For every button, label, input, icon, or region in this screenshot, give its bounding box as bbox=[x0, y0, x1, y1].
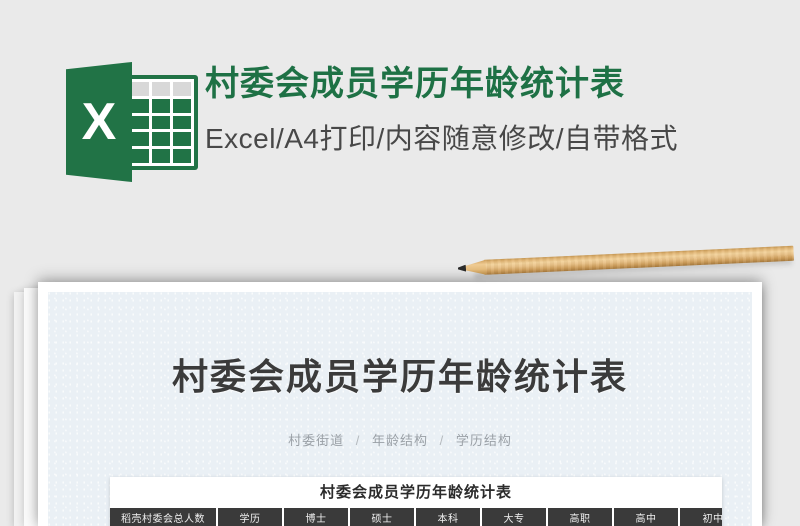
excel-grid-cell bbox=[152, 132, 170, 146]
breadcrumb: 村委街道 / 年龄结构 / 学历结构 bbox=[48, 430, 752, 449]
excel-file-icon: X bbox=[66, 62, 198, 182]
excel-grid-cell bbox=[152, 116, 170, 130]
document-title: 村委会成员学历年龄统计表 bbox=[48, 348, 752, 400]
table-header-row: 稻壳村委会总人数 学历 博士 硕士 本科 大专 高职 高中 初中 bbox=[110, 508, 722, 526]
excel-grid-cell bbox=[173, 149, 191, 163]
excel-grid-cell bbox=[152, 149, 170, 163]
excel-icon-sheet bbox=[124, 75, 198, 170]
excel-grid-cell bbox=[173, 99, 191, 113]
promo-banner: X 村委会成员学历年龄统计表 Excel/A4打印/内容随意修改/自带格式 bbox=[0, 0, 800, 232]
table-header-cell-bachelors: 本科 bbox=[416, 508, 482, 526]
table-header-cell-highschool: 高中 bbox=[614, 508, 680, 526]
table-caption: 村委会成员学历年龄统计表 bbox=[110, 477, 722, 508]
excel-grid-cell bbox=[173, 116, 191, 130]
pencil-decoration bbox=[457, 240, 794, 283]
excel-grid-cell bbox=[131, 116, 149, 130]
excel-grid-cell bbox=[152, 82, 170, 96]
excel-icon-letter: X bbox=[66, 62, 132, 184]
excel-grid-cell bbox=[173, 132, 191, 146]
breadcrumb-separator: / bbox=[356, 433, 361, 448]
breadcrumb-separator: / bbox=[440, 433, 445, 448]
breadcrumb-item-2[interactable]: 年龄结构 bbox=[372, 433, 428, 448]
promo-subtitle: Excel/A4打印/内容随意修改/自带格式 bbox=[205, 123, 785, 155]
table-header-cell-education: 学历 bbox=[218, 508, 284, 526]
excel-grid-cell bbox=[173, 82, 191, 96]
table-header-cell-masters: 硕士 bbox=[350, 508, 416, 526]
excel-icon-grid bbox=[128, 79, 194, 166]
excel-grid-cell bbox=[131, 149, 149, 163]
promo-text-block: 村委会成员学历年龄统计表 Excel/A4打印/内容随意修改/自带格式 bbox=[205, 66, 785, 156]
table-header-cell-total: 稻壳村委会总人数 bbox=[110, 508, 218, 526]
promo-screenshot: X 村委会成员学历年龄统计表 Excel/A4打印/内容随意修改/自带格式 村委… bbox=[0, 0, 800, 526]
document-sheet-front: 村委会成员学历年龄统计表 村委街道 / 年龄结构 / 学历结构 村委会成员学历年… bbox=[38, 282, 762, 526]
table-header-cell-associate: 大专 bbox=[482, 508, 548, 526]
promo-title: 村委会成员学历年龄统计表 bbox=[205, 66, 785, 103]
excel-grid-cell bbox=[131, 82, 149, 96]
breadcrumb-item-3[interactable]: 学历结构 bbox=[456, 433, 512, 448]
table-header-cell-middleschool: 初中 bbox=[680, 508, 722, 526]
excel-grid-cell bbox=[131, 99, 149, 113]
table-header-cell-vocational: 高职 bbox=[548, 508, 614, 526]
breadcrumb-item-1[interactable]: 村委街道 bbox=[288, 433, 344, 448]
excel-grid-cell bbox=[152, 99, 170, 113]
excel-grid-cell bbox=[131, 132, 149, 146]
pencil-lead-tip bbox=[458, 265, 466, 272]
document-page: 村委会成员学历年龄统计表 村委街道 / 年龄结构 / 学历结构 村委会成员学历年… bbox=[48, 292, 752, 526]
statistics-table-card: 村委会成员学历年龄统计表 稻壳村委会总人数 学历 博士 硕士 本科 大专 高职 … bbox=[110, 477, 722, 526]
table-header-cell-doctorate: 博士 bbox=[284, 508, 350, 526]
